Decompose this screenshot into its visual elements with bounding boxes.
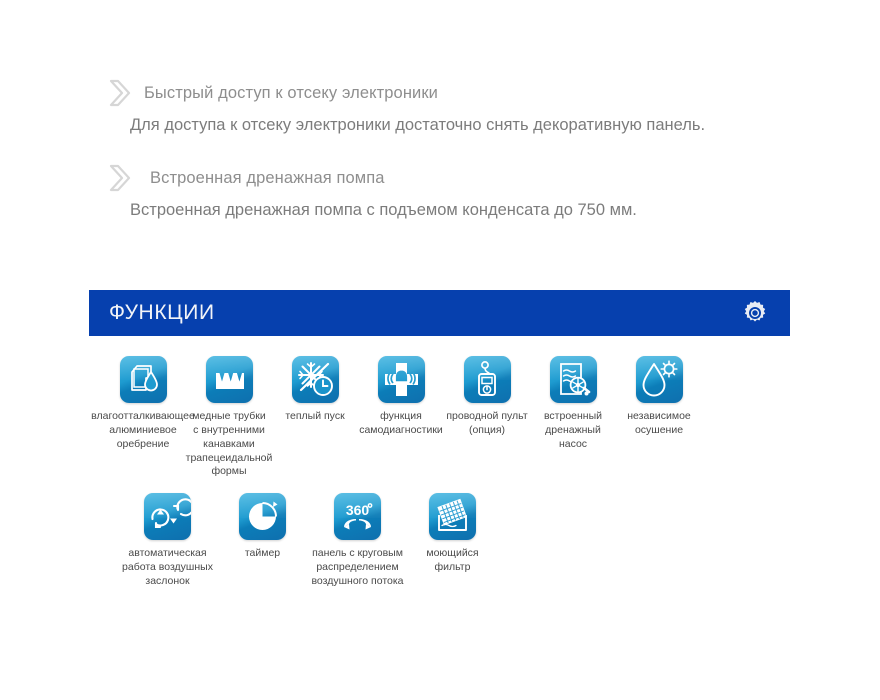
features-grid: влагоотталкивающее алюминиевое оребрение… — [100, 356, 790, 589]
water-repellent-fins-icon — [120, 356, 167, 403]
svg-text:360: 360 — [346, 502, 370, 518]
auto-louver-icon — [144, 493, 191, 540]
independent-dehumidify-icon — [636, 356, 683, 403]
chevron-right-outline-icon — [108, 163, 134, 193]
feature-body-text: Для доступа к отсеку электроники достато… — [130, 114, 755, 137]
washable-filter-icon — [429, 493, 476, 540]
feature-body-text: Встроенная дренажная помпа с подъемом ко… — [130, 199, 755, 222]
chevron-right-outline-icon — [108, 78, 134, 108]
360-airflow-icon: 360 — [334, 493, 381, 540]
feature-block-drain-pump: Встроенная дренажная помпа Встроенная др… — [108, 163, 788, 222]
features-row-2: автоматическая работа воздушных заслонок… — [100, 493, 790, 589]
copper-tubes-grooves-icon — [206, 356, 253, 403]
feature-item[interactable]: автоматическая работа воздушных заслонок — [120, 493, 215, 589]
functions-title: ФУНКЦИИ — [109, 301, 215, 325]
feature-label: независимое осушение — [603, 410, 715, 438]
feature-item[interactable]: моющийся фильтр — [405, 493, 500, 575]
timer-icon — [239, 493, 286, 540]
feature-block-quick-access: Быстрый доступ к отсеку электроники Для … — [108, 78, 788, 137]
wired-remote-control-icon — [464, 356, 511, 403]
feature-heading-row: Быстрый доступ к отсеку электроники — [108, 78, 788, 108]
feature-item[interactable]: 360 панель с круговым распределением воз… — [310, 493, 405, 589]
gear-icon-glyph — [740, 298, 770, 328]
feature-item[interactable]: независимое осушение — [616, 356, 702, 438]
snowflake-clock-icon — [292, 356, 339, 403]
feature-heading-text: Быстрый доступ к отсеку электроники — [144, 84, 438, 103]
gear-icon[interactable] — [738, 296, 772, 330]
features-row-1: влагоотталкивающее алюминиевое оребрение… — [100, 356, 790, 479]
intro-section: Быстрый доступ к отсеку электроники Для … — [108, 78, 788, 223]
drain-pump-icon — [550, 356, 597, 403]
feature-heading-row: Встроенная дренажная помпа — [108, 163, 788, 193]
self-diagnostics-cross-icon — [378, 356, 425, 403]
functions-header-bar: ФУНКЦИИ — [89, 290, 790, 336]
feature-label: моющийся фильтр — [397, 547, 509, 575]
feature-heading-text: Встроенная дренажная помпа — [144, 169, 385, 188]
